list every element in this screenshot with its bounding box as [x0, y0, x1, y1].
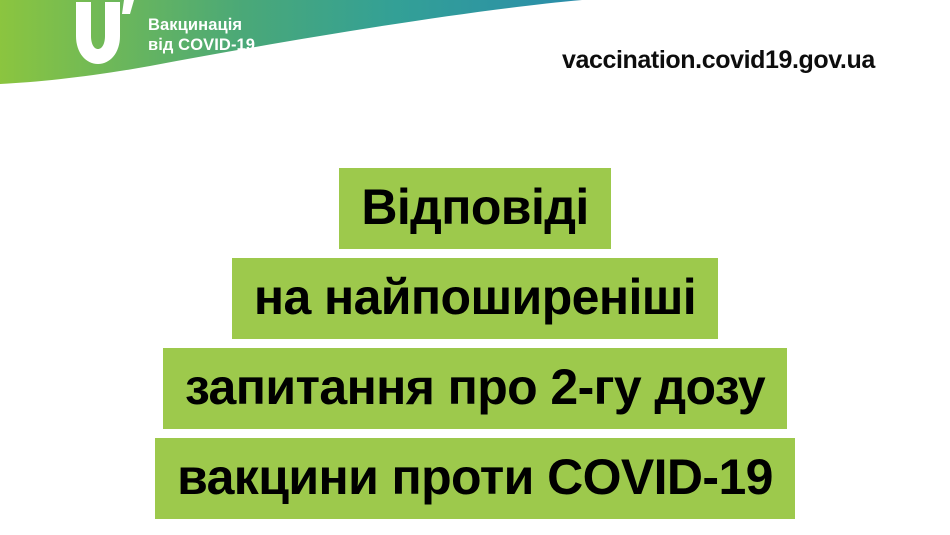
headline-line-2: на найпоширеніші — [232, 258, 718, 339]
brand-lockup: Вакцинація від COVID-19 — [72, 0, 255, 78]
headline-stack: Відповіді на найпоширеніші запитання про… — [0, 168, 950, 519]
v-logo-shape — [72, 0, 138, 74]
poster-canvas: Вакцинація від COVID-19 vaccination.covi… — [0, 0, 950, 535]
headline-line-1: Відповіді — [339, 168, 610, 249]
site-url[interactable]: vaccination.covid19.gov.ua — [562, 46, 875, 75]
brand-text: Вакцинація від COVID-19 — [148, 15, 255, 55]
vaccination-v-logo-icon — [72, 0, 138, 74]
headline-line-4: вакцини проти COVID-19 — [155, 438, 795, 519]
brand-line-1: Вакцинація — [148, 15, 255, 35]
headline-line-3: запитання про 2-гу дозу — [163, 348, 787, 429]
brand-line-2: від COVID-19 — [148, 35, 255, 55]
